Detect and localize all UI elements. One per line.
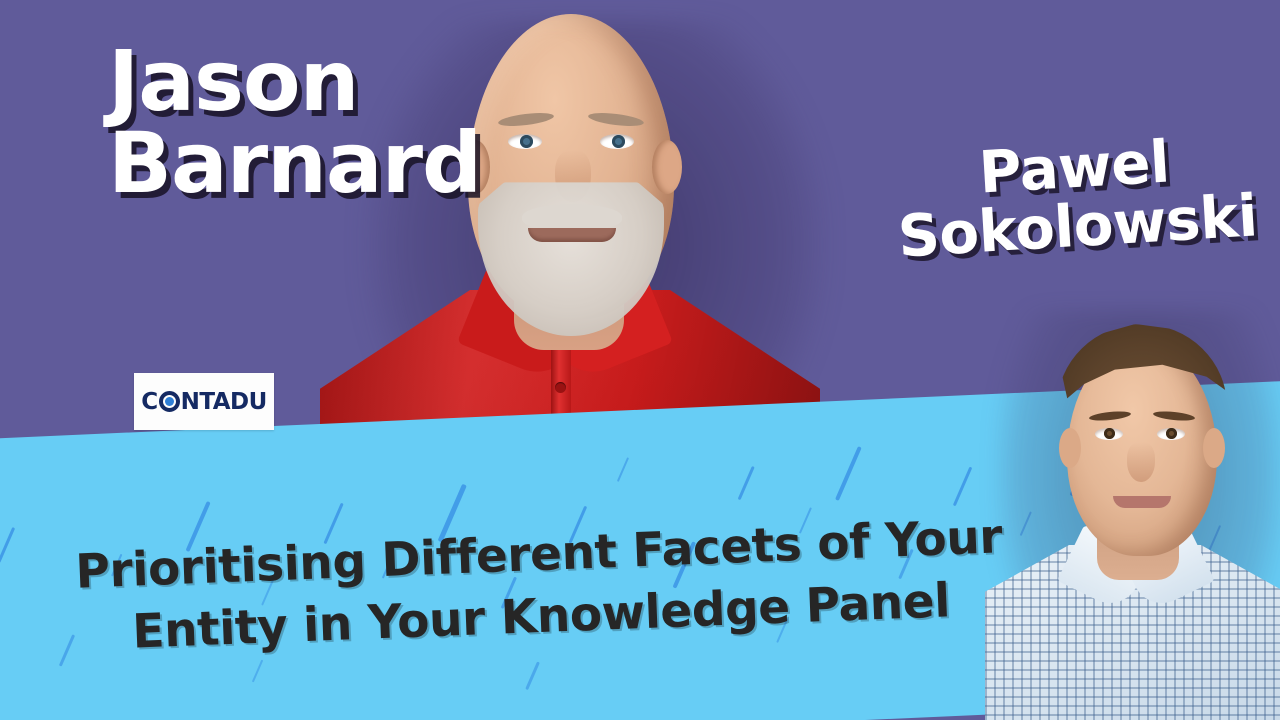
pupil-left [1104, 428, 1115, 439]
logo-letters-ntadu: NTADU [181, 389, 267, 415]
pupil-right [1166, 428, 1177, 439]
thumbnail-canvas: Jason Barnard Pawel Sokolowski CNTADU Pr… [0, 0, 1280, 720]
pupil-left [520, 135, 533, 148]
o-circle-icon [159, 391, 180, 412]
ear-left [1059, 428, 1081, 468]
mouth [528, 228, 616, 242]
mouth [1113, 496, 1171, 508]
moustache [522, 204, 622, 230]
shirt-button [555, 382, 566, 393]
cohost-name: Pawel Sokolowski [893, 127, 1259, 266]
pupil-right [612, 135, 625, 148]
ear-right [652, 140, 682, 194]
contadu-logo-text: CNTADU [141, 389, 267, 415]
guest-name: Jason Barnard [108, 40, 481, 205]
nose [1127, 442, 1155, 482]
guest-name-line2: Barnard [108, 114, 481, 212]
logo-letter-c: C [141, 389, 157, 415]
ear-right [1203, 428, 1225, 468]
contadu-logo: CNTADU [134, 373, 274, 430]
